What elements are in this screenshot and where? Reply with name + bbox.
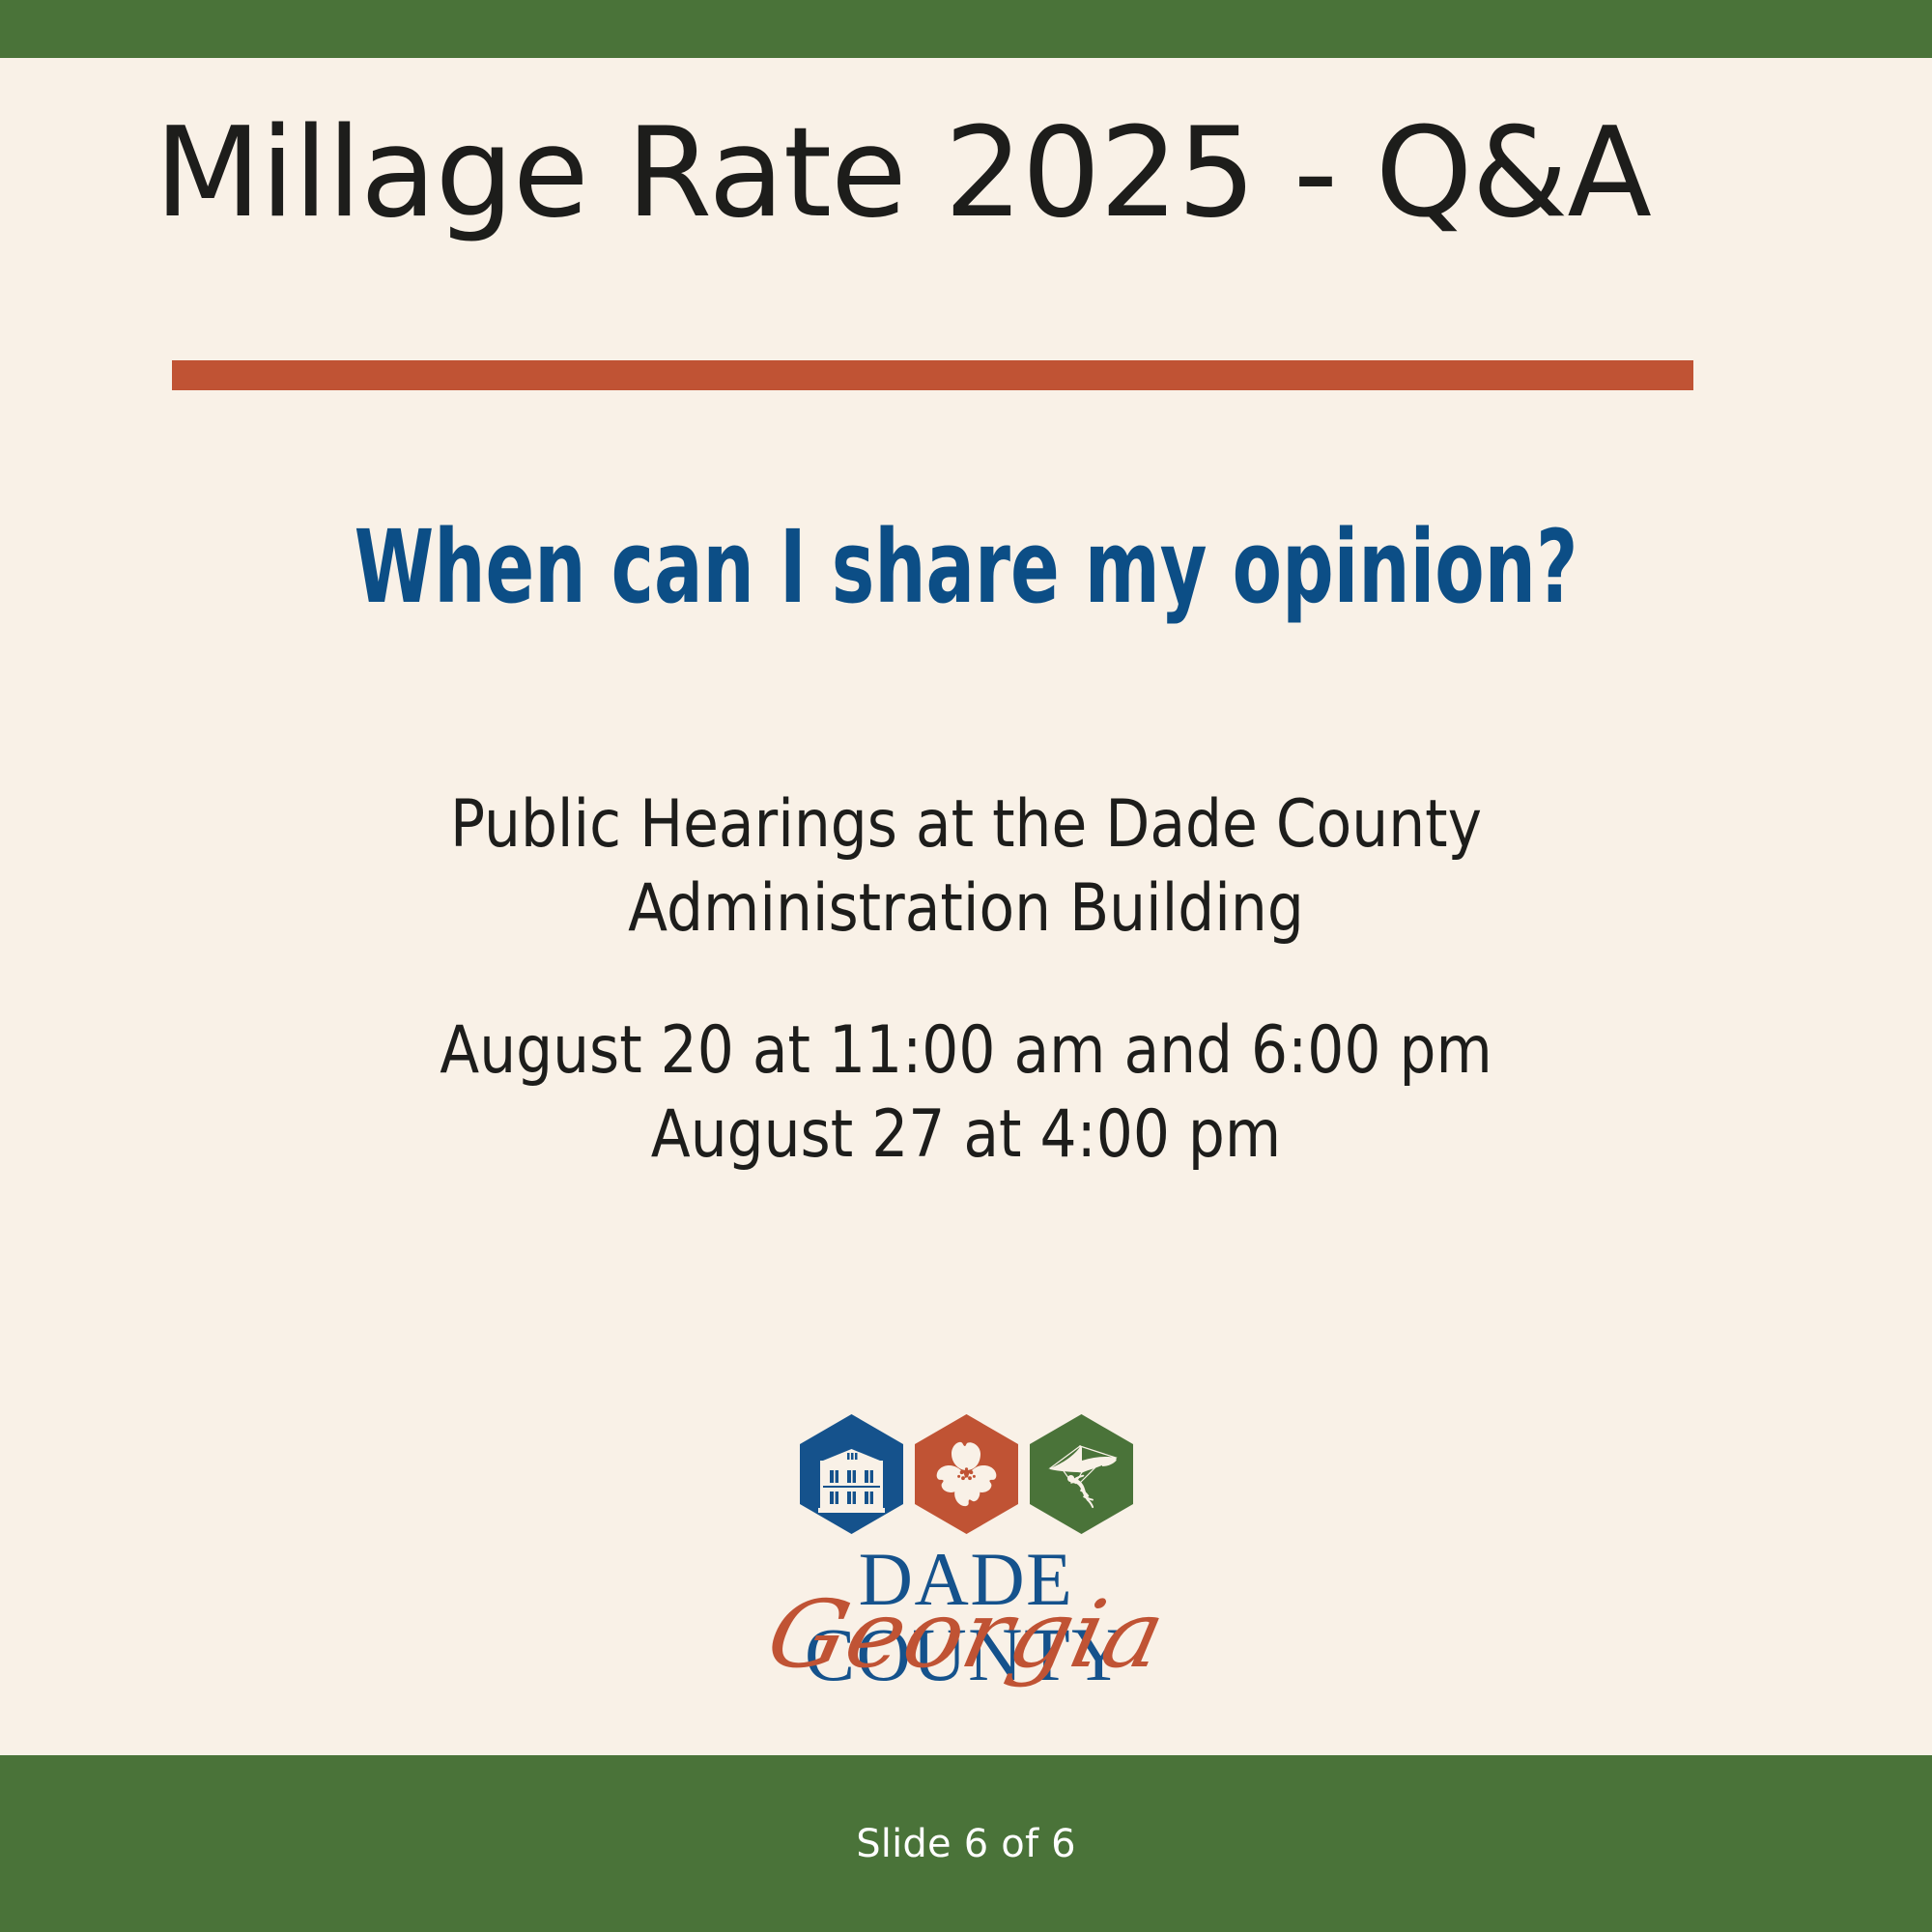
body-line: August 27 at 4:00 pm — [116, 1093, 1816, 1177]
hang-glider-icon — [1027, 1412, 1136, 1536]
page-title: Millage Rate 2025 - Q&A — [155, 109, 1797, 239]
courthouse-icon — [797, 1412, 906, 1536]
body-paragraph-dates: August 20 at 11:00 am and 6:00 pm August… — [116, 1009, 1816, 1177]
body-line: Administration Building — [116, 867, 1816, 951]
logo-hexagon-row — [797, 1412, 1136, 1536]
bottom-green-band: Slide 6 of 6 — [0, 1755, 1932, 1932]
body-paragraph-location: Public Hearings at the Dade County Admin… — [116, 782, 1816, 951]
dade-county-logo: DADE COUNTY Georgia — [0, 1412, 1932, 1706]
slide-counter: Slide 6 of 6 — [856, 1822, 1076, 1866]
body-line: Public Hearings at the Dade County — [116, 782, 1816, 867]
body-content: Public Hearings at the Dade County Admin… — [0, 782, 1932, 1177]
orange-divider-rule — [172, 360, 1693, 390]
slide-canvas: Millage Rate 2025 - Q&A When can I share… — [0, 0, 1932, 1932]
dogwood-flower-icon — [912, 1412, 1021, 1536]
top-green-band — [0, 0, 1932, 58]
question-heading: When can I share my opinion? — [193, 512, 1739, 622]
body-line: August 20 at 11:00 am and 6:00 pm — [116, 1009, 1816, 1093]
logo-wordmark: DADE COUNTY Georgia — [696, 1542, 1236, 1706]
logo-wordmark-script: Georgia — [672, 1588, 1260, 1681]
